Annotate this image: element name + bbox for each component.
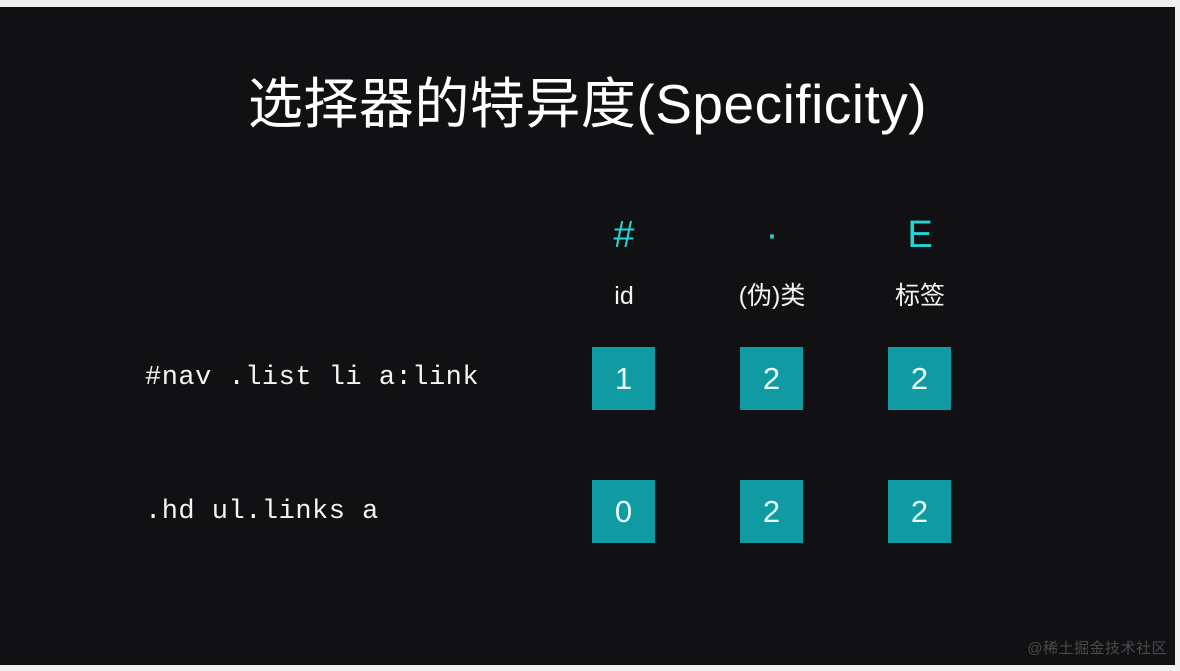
- score-box-row-2-id: 0: [592, 480, 655, 543]
- score-box-row-1-element: 2: [888, 347, 951, 410]
- dot-symbol: ·: [740, 215, 804, 255]
- watermark: @稀土掘金技术社区: [1027, 639, 1167, 659]
- selector-text-row-2: .hd ul.links a: [145, 495, 379, 529]
- column-header-element: 标签: [860, 281, 980, 311]
- score-box-row-1-class: 2: [740, 347, 803, 410]
- score-box-row-2-element: 2: [888, 480, 951, 543]
- selector-text-row-1: #nav .list li a:link: [145, 361, 479, 395]
- element-symbol: E: [888, 215, 952, 255]
- score-box-row-1-id: 1: [592, 347, 655, 410]
- page-title: 选择器的特异度(Specificity): [0, 73, 1175, 136]
- slide-canvas: 选择器的特异度(Specificity) # · E id (伪)类 标签 #n…: [0, 0, 1180, 671]
- hash-symbol: #: [592, 215, 656, 255]
- column-header-class: (伪)类: [712, 281, 832, 311]
- column-header-id: id: [564, 281, 684, 311]
- score-box-row-2-class: 2: [740, 480, 803, 543]
